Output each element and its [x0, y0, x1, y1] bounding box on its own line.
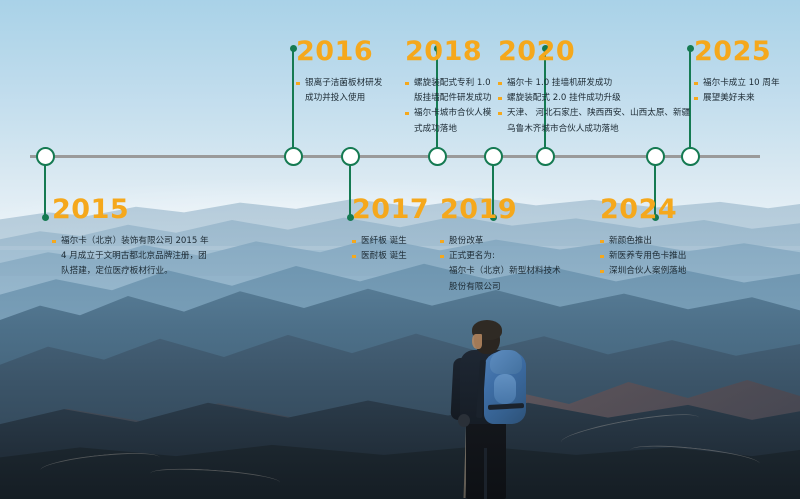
timeline-node-2025[interactable]: [681, 147, 700, 166]
timeline-bullet: 银离子洁菌板材研发: [296, 76, 382, 90]
timeline-year-label: 2020: [498, 38, 690, 65]
timeline-bullet: 螺旋装配式 2.0 挂件成功升级: [498, 91, 690, 105]
timeline-bullet-continuation: 式成功落地: [405, 122, 491, 136]
timeline-year-label: 2015: [52, 196, 209, 223]
timeline-bullet: 新医养专用色卡推出: [600, 249, 686, 263]
timeline-bullet-list: 福尔卡 1.0 挂墙机研发成功螺旋装配式 2.0 挂件成功升级天津、 河北石家庄…: [498, 76, 690, 136]
timeline-bullet: 股份改革: [440, 234, 561, 248]
timeline-bullet: 福尔卡成立 10 周年: [694, 76, 780, 90]
timeline-bullet-continuation: 队搭建，定位医疗板材行业。: [52, 264, 209, 278]
timeline-bullet: 福尔卡城市合伙人模: [405, 106, 491, 120]
timeline-bullet: 新颜色推出: [600, 234, 686, 248]
timeline-bullet: 医纤板 诞生: [352, 234, 429, 248]
timeline-entry-2019[interactable]: 2019股份改革正式更名为:福尔卡（北京）新型材料技术股份有限公司: [440, 196, 561, 295]
timeline-node-2015[interactable]: [36, 147, 55, 166]
timeline-year-label: 2017: [352, 196, 429, 223]
timeline-year-label: 2019: [440, 196, 561, 223]
timeline-year-label: 2024: [600, 196, 686, 223]
stem-cap: [42, 214, 49, 221]
timeline-bullet: 医耐板 诞生: [352, 249, 429, 263]
timeline-entry-2018[interactable]: 2018螺旋装配式专利 1.0版挂墙配件研发成功福尔卡城市合伙人模式成功落地: [405, 38, 491, 137]
timeline-node-2018[interactable]: [428, 147, 447, 166]
timeline-bullet-list: 股份改革正式更名为:福尔卡（北京）新型材料技术股份有限公司: [440, 234, 561, 294]
timeline-entry-2016[interactable]: 2016银离子洁菌板材研发成功并投入使用: [296, 38, 382, 106]
timeline-entry-2020[interactable]: 2020福尔卡 1.0 挂墙机研发成功螺旋装配式 2.0 挂件成功升级天津、 河…: [498, 38, 690, 137]
timeline-node-2024[interactable]: [646, 147, 665, 166]
timeline-entry-2025[interactable]: 2025福尔卡成立 10 周年展望美好未来: [694, 38, 780, 106]
timeline: 2015福尔卡（北京）装饰有限公司 2015 年4 月成立于文明古都北京品牌注册…: [0, 0, 800, 499]
timeline-node-2020[interactable]: [536, 147, 555, 166]
timeline-bullet: 福尔卡 1.0 挂墙机研发成功: [498, 76, 690, 90]
timeline-bullet: 螺旋装配式专利 1.0: [405, 76, 491, 90]
timeline-bullet: 福尔卡（北京）装饰有限公司 2015 年: [52, 234, 209, 248]
timeline-entry-2015[interactable]: 2015福尔卡（北京）装饰有限公司 2015 年4 月成立于文明古都北京品牌注册…: [52, 196, 209, 280]
timeline-node-2019[interactable]: [484, 147, 503, 166]
timeline-bullet-list: 银离子洁菌板材研发成功并投入使用: [296, 76, 382, 105]
timeline-bullet-continuation: 4 月成立于文明古都北京品牌注册，团: [52, 249, 209, 263]
timeline-year-label: 2016: [296, 38, 382, 65]
timeline-bullet-continuation: 福尔卡（北京）新型材料技术: [440, 264, 561, 278]
timeline-bullet: 展望美好未来: [694, 91, 780, 105]
timeline-node-2017[interactable]: [341, 147, 360, 166]
timeline-node-2016[interactable]: [284, 147, 303, 166]
timeline-entry-2024[interactable]: 2024新颜色推出新医养专用色卡推出深圳合伙人案例落地: [600, 196, 686, 280]
timeline-entry-2017[interactable]: 2017医纤板 诞生医耐板 诞生: [352, 196, 429, 264]
timeline-bullet-list: 福尔卡（北京）装饰有限公司 2015 年4 月成立于文明古都北京品牌注册，团队搭…: [52, 234, 209, 279]
timeline-bullet-list: 医纤板 诞生医耐板 诞生: [352, 234, 429, 263]
timeline-stem-2016: [292, 48, 295, 156]
timeline-bullet: 深圳合伙人案例落地: [600, 264, 686, 278]
timeline-year-label: 2018: [405, 38, 491, 65]
timeline-bullet-list: 新颜色推出新医养专用色卡推出深圳合伙人案例落地: [600, 234, 686, 279]
timeline-bullet-continuation: 乌鲁木齐城市合伙人成功落地: [498, 122, 690, 136]
timeline-bullet-list: 螺旋装配式专利 1.0版挂墙配件研发成功福尔卡城市合伙人模式成功落地: [405, 76, 491, 136]
timeline-bullet-continuation: 版挂墙配件研发成功: [405, 91, 491, 105]
timeline-bullet-continuation: 成功并投入使用: [296, 91, 382, 105]
timeline-bullet-continuation: 股份有限公司: [440, 280, 561, 294]
timeline-bullet: 正式更名为:: [440, 249, 561, 263]
timeline-bullet-list: 福尔卡成立 10 周年展望美好未来: [694, 76, 780, 105]
timeline-bullet: 天津、 河北石家庄、陕西西安、山西太原、新疆: [498, 106, 690, 120]
timeline-year-label: 2025: [694, 38, 780, 65]
